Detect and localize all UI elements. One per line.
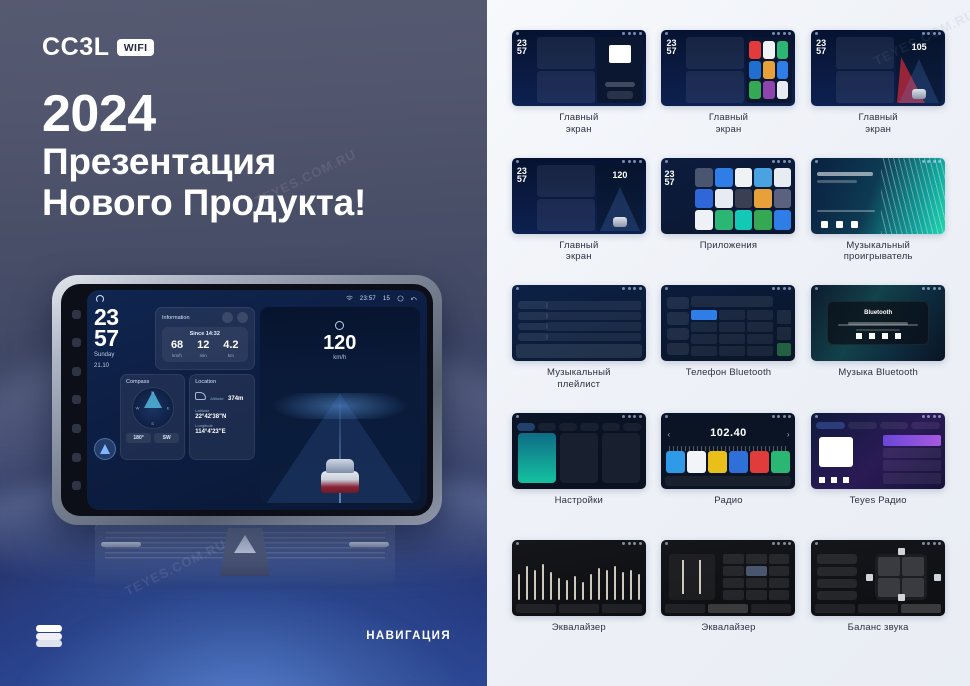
thumbnail-settings[interactable] <box>512 413 646 489</box>
product-logo: CC3L WIFI <box>42 33 154 62</box>
head-unit-screen[interactable]: 23:57 15 <box>87 290 427 510</box>
thumbnail-home-road[interactable]: 2357 105 <box>811 30 945 106</box>
playlist-player-bar[interactable] <box>516 344 642 358</box>
status-bar: 23:57 15 <box>87 290 427 307</box>
side-button-menu[interactable] <box>72 338 81 347</box>
equalizer-tabs[interactable] <box>665 604 791 613</box>
gallery-caption: Музыка Bluetooth <box>838 367 918 379</box>
home-icon[interactable] <box>96 295 104 303</box>
gallery-item[interactable]: Bluetooth Музыка Bluetooth <box>806 285 950 413</box>
speed-value: 120 <box>260 333 421 353</box>
car-3d-model <box>321 459 359 493</box>
gallery-item[interactable]: Teyes Радио <box>806 413 950 541</box>
navigation-button[interactable] <box>94 438 116 460</box>
gallery-caption: Музыкальныйплейлист <box>547 367 611 391</box>
longitude-label: Longitude <box>195 423 248 428</box>
wifi-badge: WIFI <box>117 39 155 56</box>
screen-body: 23 57 Sunday 21.10 Information <box>87 307 427 510</box>
vent-slat-left <box>101 542 141 547</box>
thumb-speed-value: 105 <box>896 42 942 52</box>
side-button-home[interactable] <box>72 395 81 404</box>
bluetooth-card: Bluetooth <box>827 301 929 345</box>
more-tile[interactable] <box>602 433 640 483</box>
gallery-caption: Приложения <box>700 240 758 252</box>
balance-up-icon[interactable] <box>898 548 905 555</box>
balance-down-icon[interactable] <box>898 594 905 601</box>
gallery-item[interactable]: 2357 Главныйэкран <box>657 30 801 158</box>
trip-stats-card: Since 14:32 68 km/h 12 <box>162 327 248 362</box>
call-icon[interactable] <box>777 343 791 356</box>
stat-distance: 4.2 km <box>223 340 238 358</box>
tune-prev-icon[interactable]: ‹ <box>667 430 670 439</box>
speed-road-widget[interactable]: 120 km/h <box>260 307 421 503</box>
latitude-label: Latitude <box>195 408 248 413</box>
presentation-slide: CC3L WIFI 2024 Презентация Нового Продук… <box>0 0 970 686</box>
side-button-power[interactable] <box>72 310 81 319</box>
gallery-item[interactable]: Телефон Bluetooth <box>657 285 801 413</box>
stat-time: 12 min <box>197 340 209 358</box>
thumbnail-apps[interactable]: 2357 <box>661 158 795 234</box>
compass-title: Compass <box>126 379 179 385</box>
gallery-item[interactable]: Музыкальныйпроигрыватель <box>806 158 950 286</box>
next-icon[interactable] <box>895 333 901 339</box>
thumb-speed-value: 120 <box>597 170 643 180</box>
balance-presets[interactable] <box>817 554 857 600</box>
speed-limit-icon <box>335 321 344 330</box>
wifi-icon <box>346 295 353 302</box>
gallery-item[interactable]: 2357 105 Главныйэкран <box>806 30 950 158</box>
settings-tabs[interactable] <box>517 423 641 431</box>
compass-e: E <box>167 406 170 411</box>
thumbnail-home-music[interactable]: 2357 <box>512 30 646 106</box>
balance-tabs[interactable] <box>815 604 941 613</box>
dialpad[interactable] <box>691 310 773 356</box>
previous-icon[interactable] <box>819 477 825 483</box>
dial-display <box>691 296 773 307</box>
thumbnail-home-speed[interactable]: 2357 120 <box>512 158 646 234</box>
equalizer-tabs[interactable] <box>516 604 642 613</box>
information-title: Information <box>162 315 190 321</box>
gallery-item[interactable]: Эквалайзер <box>507 540 651 668</box>
station-rows[interactable] <box>883 435 941 484</box>
thumbnail-bt-music[interactable]: Bluetooth <box>811 285 945 361</box>
clock-minutes: 57 <box>94 328 148 349</box>
app-icon-grid[interactable] <box>695 168 791 230</box>
playlist-sidebar[interactable] <box>518 301 548 341</box>
screen-left-column: 23 57 Sunday 21.10 Information <box>94 307 255 503</box>
clock-and-info: 23 57 Sunday 21.10 Information <box>94 307 255 370</box>
thumbnail-teyes-radio[interactable] <box>811 413 945 489</box>
compass-n: N <box>151 390 154 395</box>
back-icon[interactable] <box>411 295 418 302</box>
pause-icon[interactable] <box>836 221 843 228</box>
gallery-caption: Эквалайзер <box>552 622 606 634</box>
gallery-caption: Главныйэкран <box>859 112 898 136</box>
clock-day: Sunday <box>94 352 148 360</box>
gallery-caption: Teyes Радио <box>850 495 907 507</box>
lower-widgets: Compass N E S W 180° <box>94 374 255 460</box>
phone-sidebar[interactable] <box>667 297 689 355</box>
since-label: Since 14:32 <box>164 331 246 337</box>
radio-frequency: 102.40 <box>661 427 795 439</box>
radio-toolbar[interactable] <box>665 476 791 486</box>
side-button-volume-down[interactable] <box>72 453 81 462</box>
balance-left-icon[interactable] <box>866 574 873 581</box>
gallery-caption: Главныйэкран <box>559 240 598 264</box>
status-time: 23:57 <box>360 296 376 302</box>
compass-dial: N E S W <box>132 387 174 429</box>
gallery-caption: Телефон Bluetooth <box>686 367 772 379</box>
next-icon[interactable] <box>851 221 858 228</box>
side-button-strip[interactable] <box>68 300 84 500</box>
speed-readout: 120 km/h <box>260 321 421 361</box>
next-icon[interactable] <box>843 477 849 483</box>
tune-next-icon[interactable]: › <box>787 430 790 439</box>
settings-tiles[interactable] <box>518 433 640 483</box>
equalizer-sliders[interactable] <box>518 558 640 600</box>
altitude-value: 374m <box>228 396 243 402</box>
thumbnail-equalizer-pads[interactable] <box>661 540 795 616</box>
head-unit-device: 23:57 15 <box>52 275 442 525</box>
latitude-value: 22°42'38"N <box>195 414 248 420</box>
audio-wave-visualizer <box>881 158 945 234</box>
stop-icon[interactable] <box>882 333 888 339</box>
gallery-item[interactable]: Эквалайзер <box>657 540 801 668</box>
thumbnail-balance[interactable] <box>811 540 945 616</box>
hero-footer: НАВИГАЦИЯ <box>0 616 487 656</box>
altitude-label: Altitude <box>210 396 223 401</box>
gallery-item[interactable]: 2357 120 Главныйэкран <box>507 158 651 286</box>
gallery-grid: 2357 Главныйэкран 2357 <box>507 30 950 668</box>
hero-title-line2: Нового Продукта! <box>42 182 366 223</box>
previous-icon[interactable] <box>856 333 862 339</box>
head-unit-body: 23:57 15 <box>61 284 433 516</box>
gallery-caption: Музыкальныйпроигрыватель <box>844 240 913 264</box>
gallery-caption: Главныйэкран <box>709 112 748 136</box>
information-widget[interactable]: Information Since 14:32 <box>155 307 255 370</box>
center-console <box>95 520 395 590</box>
thumbnail-home-apps[interactable]: 2357 <box>661 30 795 106</box>
logo-text: CC3L <box>42 33 110 62</box>
side-button-volume-up[interactable] <box>72 481 81 490</box>
compass-widget[interactable]: Compass N E S W 180° <box>120 374 185 460</box>
side-button-settings[interactable] <box>72 367 81 376</box>
speed-unit: km/h <box>260 355 421 361</box>
longitude-value: 114°4'23"E <box>195 429 248 435</box>
gallery-item[interactable]: Баланс звука <box>806 540 950 668</box>
gallery-caption: Главныйэкран <box>559 112 598 136</box>
gallery-item[interactable]: 102.40 ‹ › Радио <box>657 413 801 541</box>
stat-speed: 68 km/h <box>171 340 183 358</box>
playlist-rows[interactable] <box>546 301 641 341</box>
screenshot-gallery-panel: 2357 Главныйэкран 2357 <box>487 0 970 686</box>
bluetooth-label: Bluetooth <box>828 310 928 316</box>
hero-panel: CC3L WIFI 2024 Презентация Нового Продук… <box>0 0 487 686</box>
hero-year: 2024 <box>42 88 366 141</box>
vent-slat-right <box>349 542 389 547</box>
home-icon-status[interactable] <box>397 295 404 302</box>
compass-heading: 180° <box>126 433 151 443</box>
thumbnail-equalizer[interactable] <box>512 540 646 616</box>
location-title: Location <box>195 379 248 385</box>
favorite-icon[interactable] <box>777 310 791 323</box>
backspace-icon[interactable] <box>777 327 791 340</box>
gallery-item[interactable]: Настройки <box>507 413 651 541</box>
gallery-item[interactable]: 2357 Главныйэкран <box>507 30 651 158</box>
gallery-item[interactable]: 2357 Приложения <box>657 158 801 286</box>
layers-icon <box>36 625 62 647</box>
mountain-icon <box>195 392 206 400</box>
gallery-caption: Настройки <box>555 495 603 507</box>
thumbnail-music-player[interactable] <box>811 158 945 234</box>
refresh-icon[interactable] <box>237 312 248 323</box>
thumbnail-radio[interactable]: 102.40 ‹ › <box>661 413 795 489</box>
hero-title-line1: Презентация <box>42 141 366 182</box>
fader-sliders[interactable] <box>669 554 715 600</box>
status-volume: 15 <box>383 296 390 302</box>
radio-presets[interactable] <box>666 451 790 473</box>
wifi-tile[interactable] <box>518 433 556 483</box>
clock-widget[interactable]: 23 57 Sunday 21.10 <box>94 307 148 370</box>
hazard-triangle-icon <box>234 535 256 553</box>
album-art <box>819 437 853 467</box>
preset-pad-grid[interactable] <box>723 554 789 600</box>
location-widget[interactable]: Location Altitude 374m <box>189 374 254 460</box>
side-button-back[interactable] <box>72 424 81 433</box>
hero-title: 2024 Презентация Нового Продукта! <box>42 88 366 224</box>
teyes-tabs[interactable] <box>816 422 940 429</box>
gallery-caption: Эквалайзер <box>701 622 755 634</box>
thumbnail-playlist[interactable] <box>512 285 646 361</box>
gallery-caption: Радио <box>714 495 742 507</box>
balance-right-icon[interactable] <box>934 574 941 581</box>
play-pause-icon[interactable] <box>869 333 875 339</box>
compass-w: W <box>136 406 140 411</box>
carplay-tile[interactable] <box>560 433 598 483</box>
compass-s: S <box>151 421 154 426</box>
gear-icon[interactable] <box>222 312 233 323</box>
gallery-item[interactable]: Музыкальныйплейлист <box>507 285 651 413</box>
clock-date: 21.10 <box>94 363 148 371</box>
gallery-caption: Баланс звука <box>848 622 909 634</box>
stop-icon[interactable] <box>831 477 837 483</box>
previous-icon[interactable] <box>821 221 828 228</box>
navigation-label: НАВИГАЦИЯ <box>366 630 451 642</box>
compass-direction: SW <box>154 433 179 443</box>
thumbnail-bt-phone[interactable] <box>661 285 795 361</box>
